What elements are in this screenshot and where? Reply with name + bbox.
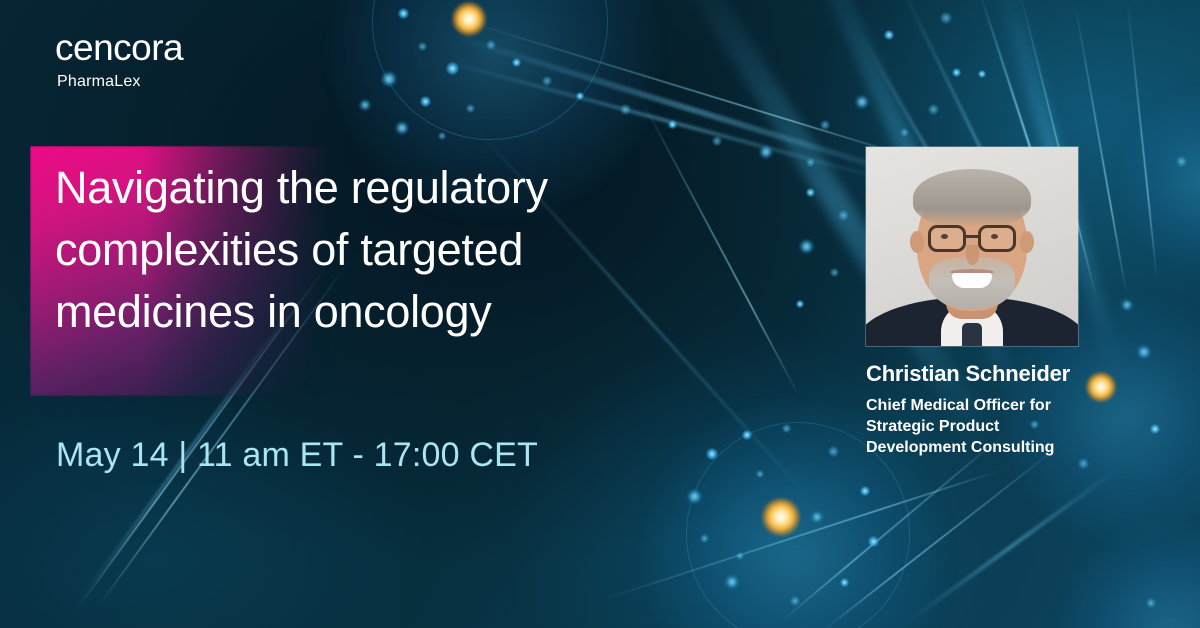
node-dot [856,96,868,108]
portrait-eyeglasses-bridge [966,235,978,238]
event-date-time: May 14 | 11 am ET - 17:00 CET [56,434,538,476]
node-dot [706,448,718,460]
node-dot [940,12,952,24]
node-dot [840,578,849,587]
node-cluster-halo [1120,90,1200,270]
node-dot [700,534,709,543]
speaker-title-line-1: Chief Medical Officer for [866,395,1081,416]
node-dot [396,122,408,134]
node-dot [1146,598,1156,608]
portrait-nose [966,245,979,265]
node-dot [1138,346,1150,358]
cencora-logo: cencora PharmaLex [55,28,183,92]
node-dot [838,210,849,221]
node-dot [868,536,879,547]
headline-line-2: complexities of targeted [55,219,755,281]
node-dot [860,486,870,496]
node-dot [1122,300,1132,310]
node-cluster-ring [372,0,608,140]
node-dot [418,42,427,51]
portrait-eyeglasses-right-lens [978,225,1016,252]
node-dot [712,136,722,146]
light-streak [779,429,1010,623]
node-dot [542,76,552,86]
light-streak [907,467,1120,623]
node-dot [790,596,800,606]
node-dot [900,128,909,137]
node-dot [438,132,446,140]
node-cluster-halo [1060,520,1200,628]
node-dot [760,146,772,158]
portrait-tie [962,323,982,346]
node-dot [800,240,813,253]
node-dot [668,120,677,129]
speaker-title-line-2: Strategic Product [866,416,1081,437]
node-dot [796,300,804,308]
logo-wordmark: cencora [55,28,183,68]
node-dot [512,58,521,67]
node-dot [736,552,744,560]
node-dot [688,490,701,503]
node-dot [806,188,815,197]
portrait-ear-left [910,231,924,253]
portrait-eyeglasses-left-lens [928,225,966,252]
webinar-promo-banner: cencora PharmaLex Navigating the regulat… [0,0,1200,628]
node-dot [828,446,839,457]
light-streak [1127,0,1157,279]
node-dot [620,104,631,115]
node-dot [830,268,839,277]
node-dot [806,158,815,167]
light-streak [823,445,1060,628]
node-dot [812,512,822,522]
glowing-core [452,2,486,36]
portrait-smile [952,273,992,288]
node-dot [398,8,409,19]
node-dot [360,100,370,110]
node-dot [782,424,791,433]
node-dot [1078,458,1089,469]
light-streak [470,22,920,161]
headline-line-3: medicines in oncology [55,281,755,343]
node-dot [978,70,986,78]
node-dot [742,430,752,440]
node-dot [884,30,894,40]
node-dot [576,92,584,100]
portrait-hair [913,169,1031,227]
node-dot [486,40,496,50]
node-dot [466,104,475,113]
node-dot [1176,156,1187,167]
speaker-title: Chief Medical Officer for Strategic Prod… [866,395,1081,458]
speaker-name: Christian Schneider [866,360,1096,388]
node-dot [446,62,459,75]
node-dot [952,68,961,77]
speaker-title-line-3: Development Consulting [866,437,1081,458]
headline-line-1: Navigating the regulatory [55,157,755,219]
node-dot [726,576,738,588]
logo-subbrand: PharmaLex [57,72,183,92]
speaker-headshot-photo [866,147,1078,346]
node-dot [382,72,396,86]
node-dot [1150,424,1160,434]
node-dot [820,120,830,130]
portrait-ear-right [1020,231,1034,253]
node-dot [420,96,431,107]
glowing-core [762,498,800,536]
node-dot [756,470,764,478]
page-title: Navigating the regulatory complexities o… [55,157,755,343]
node-dot [928,104,939,115]
speaker-block: Christian Schneider Chief Medical Office… [866,147,1096,458]
light-streak [600,470,1000,601]
